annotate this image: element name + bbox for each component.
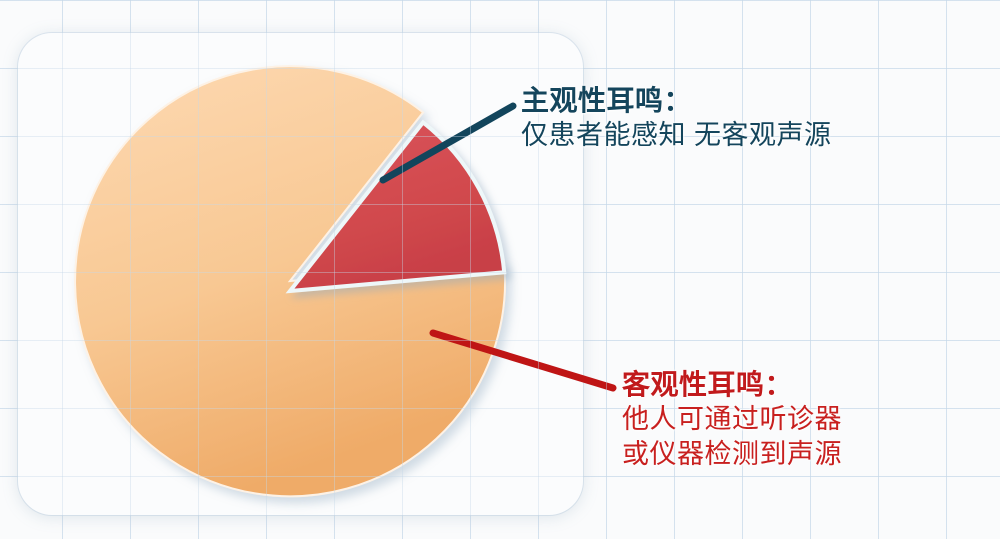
annotation-subjective-heading: 主观性耳鸣： xyxy=(521,84,832,118)
annotation-subjective: 主观性耳鸣： 仅患者能感知 无客观声源 xyxy=(521,84,832,153)
pie-slice-subjective xyxy=(75,66,505,496)
annotation-subjective-line1: 仅患者能感知 无客观声源 xyxy=(521,118,832,153)
annotation-objective-line1: 他人可通过听诊器 xyxy=(622,402,842,437)
pie-chart xyxy=(0,0,1000,539)
pie-chart-svg xyxy=(0,0,1000,539)
annotation-objective: 客观性耳鸣： 他人可通过听诊器 或仪器检测到声源 xyxy=(622,368,842,472)
figure-canvas: 主观性耳鸣： 仅患者能感知 无客观声源 客观性耳鸣： 他人可通过听诊器 或仪器检… xyxy=(0,0,1000,539)
annotation-objective-heading: 客观性耳鸣： xyxy=(622,368,842,402)
annotation-objective-line2: 或仪器检测到声源 xyxy=(622,437,842,472)
